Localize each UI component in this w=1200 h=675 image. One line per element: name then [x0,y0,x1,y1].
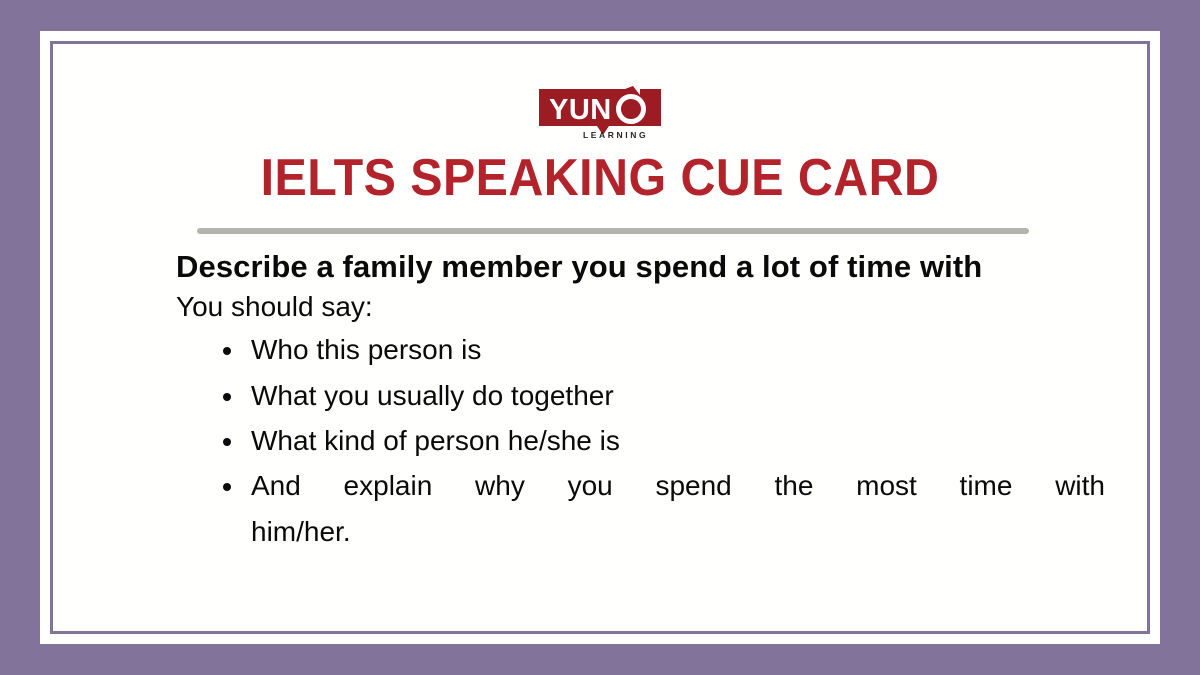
svg-text:YUN: YUN [549,94,612,126]
cue-card-instruction: You should say: [176,289,1107,325]
yuno-logo-mark: YUN LEARNING [539,86,661,142]
cue-card-inner-border: YUN LEARNING IELTS SPEAKING CUE CARD Des… [50,41,1150,634]
cue-card-content: YUN LEARNING IELTS SPEAKING CUE CARD Des… [53,44,1147,631]
cue-point-item: Who this person is [219,327,1107,372]
cue-point-item: What you usually do together [219,373,1107,418]
slide-canvas: YUN LEARNING IELTS SPEAKING CUE CARD Des… [0,0,1200,675]
page-title: IELTS SPEAKING CUE CARD [91,152,1108,204]
cue-point-line: And explain why you spend the most time … [251,463,1105,508]
cue-card-prompt: Describe a family member you spend a lot… [176,248,1107,287]
brand-logo: YUN LEARNING [53,86,1147,144]
cue-point-line: him/her. [251,509,1105,554]
svg-text:LEARNING: LEARNING [583,130,648,140]
cue-point-item: And explain why you spend the most time … [219,463,1107,554]
cue-card-outer-frame: YUN LEARNING IELTS SPEAKING CUE CARD Des… [40,31,1160,644]
cue-point-list: Who this person is What you usually do t… [176,327,1107,554]
cue-card-body: Describe a family member you spend a lot… [176,248,1107,554]
yuno-logo-icon: YUN LEARNING [539,86,661,142]
cue-point-item: What kind of person he/she is [219,418,1107,463]
title-divider [197,228,1029,234]
